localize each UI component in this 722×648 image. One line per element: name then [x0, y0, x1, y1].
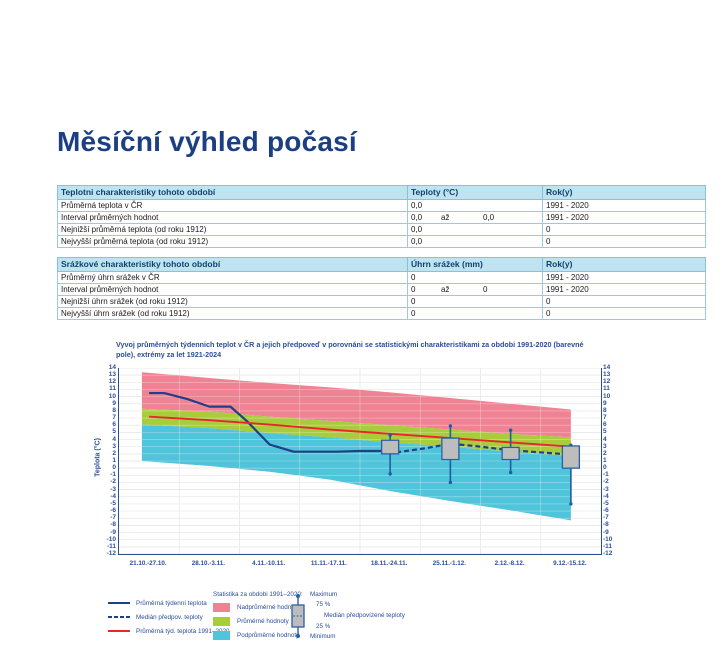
legend-label: Průměrná týdenní teplota [136, 600, 207, 607]
boxplot-label-q3: 75 % [316, 601, 330, 608]
legend-label: Průměrné hodnoty [237, 618, 289, 625]
legend-label: Medián předpov. teploty [136, 614, 203, 621]
boxplot-max-cap [509, 429, 512, 432]
chart-y-axis-ticks-right: 14131211109876543210-1-2-3-4-5-6-7-8-9-1… [603, 368, 625, 554]
row-label: Interval průměrných hodnot [58, 212, 408, 224]
row-years: 0 [543, 236, 706, 248]
x-tick-label: 9.12.-15.12. [553, 560, 587, 567]
header-cell-years: Rok(y) [543, 258, 706, 272]
legend-item-avg-weekly-temp: Průměrná týdenní teplota [108, 597, 229, 609]
row-value: 0,0až0,0 [408, 212, 543, 224]
chart-svg [119, 368, 601, 554]
value-a: 0 [411, 272, 441, 283]
x-tick-label: 25.11.-1.12. [433, 560, 466, 567]
row-value: 0,0 [408, 236, 543, 248]
row-label: Nejnižší průměrná teplota (od roku 1912) [58, 224, 408, 236]
temperature-forecast-chart: Vyvoj průměrných týdennich teplot v ČR a… [78, 336, 678, 646]
y-tick-label: -12 [94, 550, 116, 558]
header-cell-label: Teplotni charakteristiky tohoto období [58, 186, 408, 200]
x-tick-label: 4.11.-10.11. [252, 560, 285, 567]
x-tick-label: 21.10.-27.10. [130, 560, 167, 567]
solid-red-line-icon [108, 630, 130, 633]
row-label: Interval průměrných hodnot [58, 284, 408, 296]
legend-item-normal-avg-temp: Průměrná týd. teplota 1991–2020 [108, 625, 229, 637]
row-value: 0 [408, 272, 543, 284]
x-tick-label: 18.11.-24.11. [371, 560, 407, 567]
page-title: Měsíční výhled počasí [57, 126, 357, 158]
boxplot-box [382, 440, 399, 454]
row-years: 0 [543, 224, 706, 236]
table-row: Interval průměrných hodnot 0až0 1991 - 2… [58, 284, 706, 296]
temperature-characteristics-table: Teplotni charakteristiky tohoto období T… [57, 185, 706, 248]
value-a: 0,0 [411, 224, 441, 235]
chart-legend: Průměrná týdenní teplota Medián předpov.… [78, 591, 678, 646]
dashed-blue-line-icon [108, 616, 130, 619]
legend-max-cap [296, 594, 300, 598]
boxplot-box [562, 446, 579, 468]
row-value: 0,0 [408, 200, 543, 212]
boxplot-max-cap [388, 434, 391, 437]
legend-boxplot-glyph [292, 594, 304, 638]
header-cell-value: Úhrn srážek (mm) [408, 258, 543, 272]
boxplot-label-max: Maximum [310, 591, 337, 598]
row-value: 0 [408, 308, 543, 320]
chart-x-axis-ticks: 21.10.-27.10.28.10.-3.11.4.11.-10.11.11.… [118, 558, 600, 572]
table-row: Nejnižší úhrn srážek (od roku 1912) 0 0 [58, 296, 706, 308]
value-a: 0 [411, 308, 441, 319]
row-label: Průměrný úhrn srážek v ČR [58, 272, 408, 284]
chart-plot-area [118, 368, 602, 555]
row-years: 1991 - 2020 [543, 284, 706, 296]
boxplot-min-cap [569, 502, 572, 505]
above-normal-swatch-icon [213, 603, 230, 612]
header-cell-value: Teploty (°C) [408, 186, 543, 200]
value-b: 0 [483, 284, 487, 295]
row-years: 1991 - 2020 [543, 212, 706, 224]
header-cell-label: Srážkové charakteristiky tohoto období [58, 258, 408, 272]
table-header-row: Srážkové charakteristiky tohoto období Ú… [58, 258, 706, 272]
boxplot-legend-icon [290, 593, 306, 639]
chart-title: Vyvoj průměrných týdennich teplot v ČR a… [116, 340, 586, 360]
header-cell-years: Rok(y) [543, 186, 706, 200]
below-normal-swatch-icon [213, 631, 230, 640]
value-b: 0,0 [483, 212, 494, 223]
boxplot-box [502, 447, 519, 459]
table-row: Nejnižší průměrná teplota (od roku 1912)… [58, 224, 706, 236]
legend-item-forecast-median: Medián předpov. teploty [108, 611, 229, 623]
row-value: 0,0 [408, 224, 543, 236]
row-years: 0 [543, 308, 706, 320]
row-years: 1991 - 2020 [543, 272, 706, 284]
precipitation-characteristics-table: Srážkové charakteristiky tohoto období Ú… [57, 257, 706, 320]
table-row: Průměrný úhrn srážek v ČR 0 1991 - 2020 [58, 272, 706, 284]
value-a: 0,0 [411, 212, 441, 223]
row-value: 0 [408, 296, 543, 308]
boxplot-min-cap [509, 471, 512, 474]
y-tick-label: -12 [603, 550, 625, 558]
value-separator: až [441, 212, 483, 223]
row-label: Nejvyšší úhrn srážek (od roku 1912) [58, 308, 408, 320]
chart-y-axis-ticks-left: 14131211109876543210-1-2-3-4-5-6-7-8-9-1… [94, 368, 116, 554]
boxplot-label-median: Medián předpovízené teploty [324, 612, 405, 619]
value-a: 0,0 [411, 236, 441, 247]
boxplot-label-min: Minimum [310, 633, 336, 640]
value-a: 0 [411, 284, 441, 295]
legend-series-column: Průměrná týdenní teplota Medián předpov.… [108, 597, 229, 639]
row-label: Průměrná teplota v ČR [58, 200, 408, 212]
value-separator: až [441, 284, 483, 295]
solid-blue-line-icon [108, 602, 130, 605]
value-a: 0,0 [411, 200, 441, 211]
value-a: 0 [411, 296, 441, 307]
x-tick-label: 28.10.-3.11. [192, 560, 225, 567]
row-value: 0až0 [408, 284, 543, 296]
row-years: 1991 - 2020 [543, 200, 706, 212]
table-row: Interval průměrných hodnot 0,0až0,0 1991… [58, 212, 706, 224]
boxplot-min-cap [388, 472, 391, 475]
boxplot-max-cap [449, 424, 452, 427]
table-row: Nejvyšší průměrná teplota (od roku 1912)… [58, 236, 706, 248]
row-label: Nejvyšší průměrná teplota (od roku 1912) [58, 236, 408, 248]
legend-min-cap [296, 634, 300, 638]
row-label: Nejnižší úhrn srážek (od roku 1912) [58, 296, 408, 308]
table-row: Nejvyšší úhrn srážek (od roku 1912) 0 0 [58, 308, 706, 320]
boxplot-box [442, 438, 459, 459]
table-row: Průměrná teplota v ČR 0,0 1991 - 2020 [58, 200, 706, 212]
x-tick-label: 2.12.-8.12. [495, 560, 525, 567]
table-header-row: Teplotni charakteristiky tohoto období T… [58, 186, 706, 200]
boxplot-label-q1: 25 % [316, 623, 330, 630]
boxplot-legend-labels: Maximum 75 % Medián předpovízené teploty… [310, 591, 490, 639]
row-years: 0 [543, 296, 706, 308]
boxplot-min-cap [449, 481, 452, 484]
normal-swatch-icon [213, 617, 230, 626]
x-tick-label: 11.11.-17.11. [311, 560, 347, 567]
